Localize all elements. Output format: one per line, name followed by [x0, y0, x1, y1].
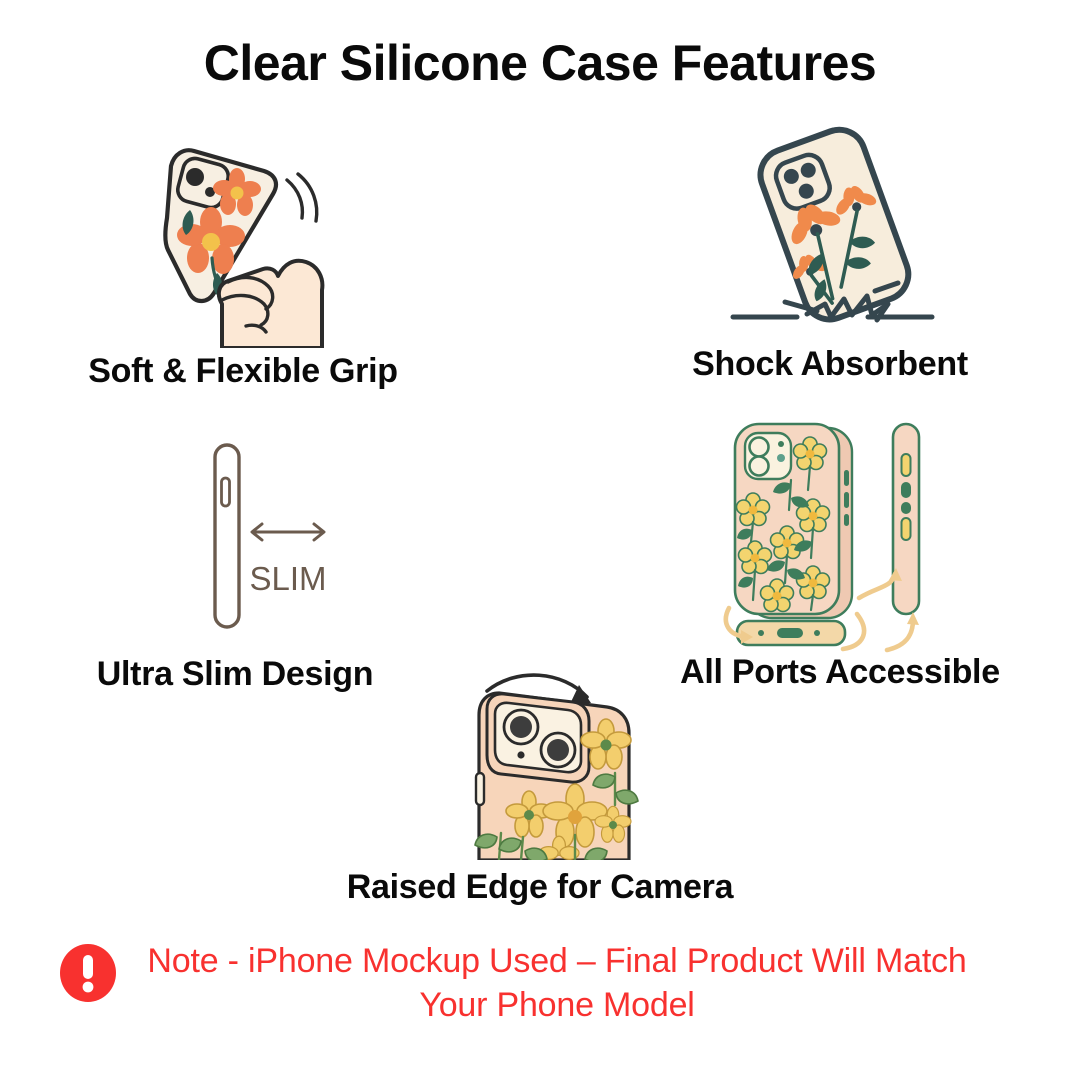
feature-label-slim: Ultra Slim Design	[10, 655, 460, 694]
note-banner: Note - iPhone Mockup Used – Final Produc…	[60, 940, 1020, 1027]
feature-label-ports: All Ports Accessible	[615, 653, 1065, 692]
feature-illustration-grip	[118, 118, 368, 348]
feature-illustration-ports	[705, 418, 940, 653]
note-text: Note - iPhone Mockup Used – Final Produc…	[132, 940, 1020, 1027]
exclamation-circle-icon	[60, 944, 116, 1007]
page-title: Clear Silicone Case Features	[0, 34, 1080, 92]
feature-illustration-camera	[455, 665, 665, 860]
feature-illustration-shock	[725, 118, 940, 343]
feature-label-shock: Shock Absorbent	[605, 345, 1055, 384]
slim-caption: SLIM	[249, 560, 326, 597]
feature-label-camera: Raised Edge for Camera	[310, 868, 770, 907]
feature-label-grip: Soft & Flexible Grip	[18, 352, 468, 391]
feature-illustration-slim: SLIM	[195, 435, 375, 635]
